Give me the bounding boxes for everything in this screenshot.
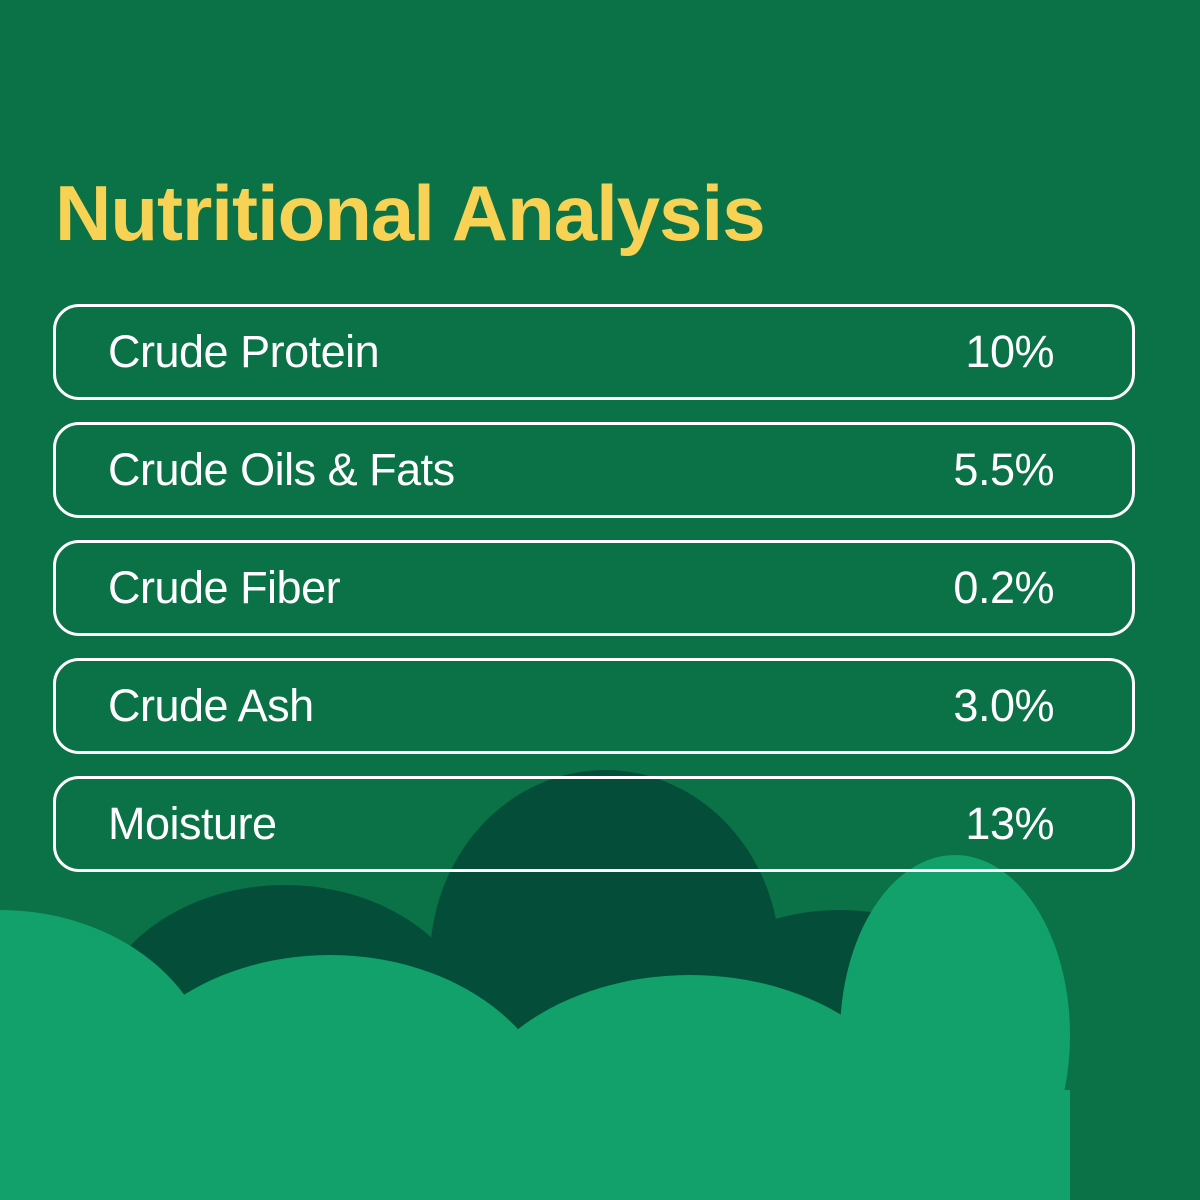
light-bush-right: [840, 855, 1070, 1200]
light-bush-center: [455, 975, 925, 1200]
mid-bush-far-left: [0, 910, 180, 1200]
nutrient-label: Crude Fiber: [108, 563, 340, 613]
dark-bush-left: [90, 885, 480, 1195]
dark-bush-right: [650, 910, 1030, 1200]
nutrient-label: Crude Protein: [108, 327, 379, 377]
nutrient-label: Crude Oils & Fats: [108, 445, 455, 495]
foliage-light-layer: [0, 855, 1070, 1200]
nutrient-value: 5.5%: [953, 445, 1054, 495]
nutrient-value: 13%: [965, 799, 1054, 849]
nutrient-label: Crude Ash: [108, 681, 314, 731]
table-row: Crude Fiber 0.2%: [53, 540, 1135, 636]
table-row: Crude Oils & Fats 5.5%: [53, 422, 1135, 518]
table-row: Moisture 13%: [53, 776, 1135, 872]
table-row: Crude Protein 10%: [53, 304, 1135, 400]
dark-bush-base: [95, 1030, 945, 1200]
nutrient-value: 10%: [965, 327, 1054, 377]
nutrient-table: Crude Protein 10% Crude Oils & Fats 5.5%…: [53, 304, 1135, 872]
page-title: Nutritional Analysis: [55, 170, 765, 256]
foliage-mid-layer: [0, 910, 180, 1200]
nutrient-value: 3.0%: [953, 681, 1054, 731]
light-bush-base: [0, 1090, 1070, 1200]
nutritional-analysis-card: Nutritional Analysis Crude Protein 10% C…: [0, 0, 1200, 1200]
light-bush-left: [100, 955, 560, 1200]
light-bush-far-left: [0, 910, 215, 1200]
nutrient-value: 0.2%: [953, 563, 1054, 613]
table-row: Crude Ash 3.0%: [53, 658, 1135, 754]
nutrient-label: Moisture: [108, 799, 277, 849]
